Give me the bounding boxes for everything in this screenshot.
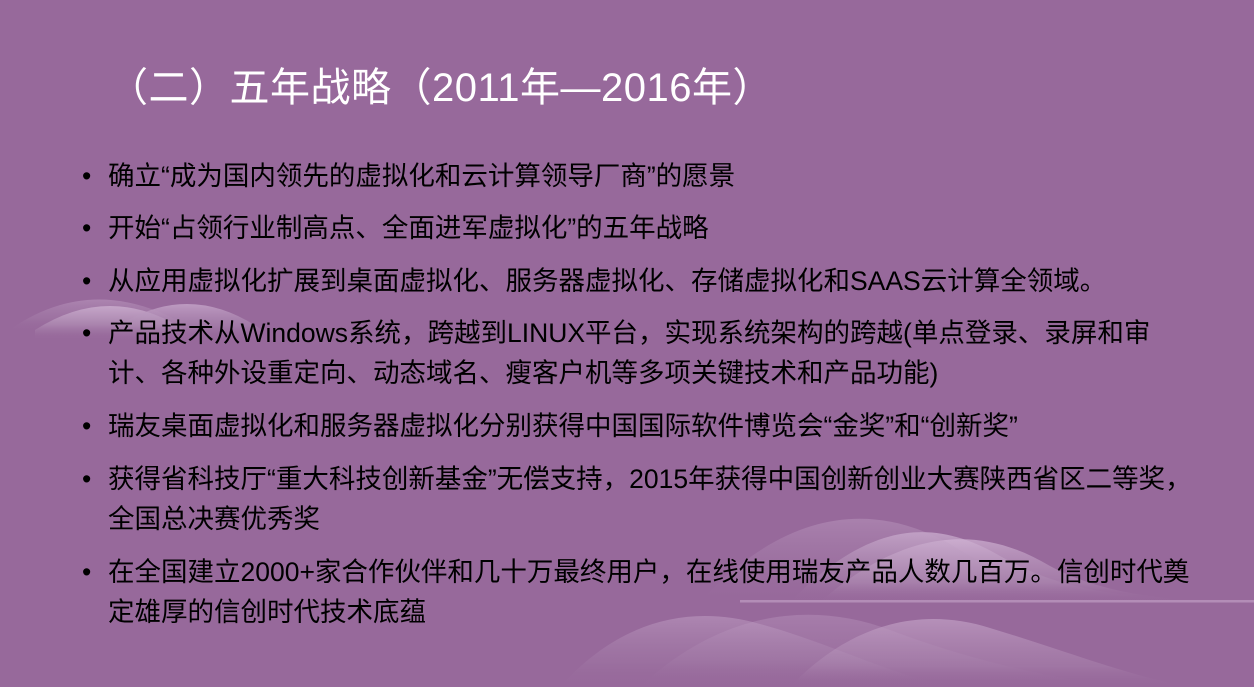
list-item-text: 产品技术从Windows系统，跨越到LINUX平台，实现系统架构的跨越(单点登录… (108, 313, 1202, 394)
bullet-marker-icon: • (82, 552, 91, 592)
list-item: • 产品技术从Windows系统，跨越到LINUX平台，实现系统架构的跨越(单点… (72, 313, 1202, 394)
bullet-marker-icon: • (82, 313, 91, 353)
list-item-text: 在全国建立2000+家合作伙伴和几十万最终用户，在线使用瑞友产品人数几百万。信创… (108, 552, 1202, 633)
bullet-marker-icon: • (82, 208, 91, 248)
title-block: （二）五年战略（2011年—2016年） (108, 64, 1168, 113)
list-item-text: 获得省科技厅“重大科技创新基金”无偿支持，2015年获得中国创新创业大赛陕西省区… (108, 459, 1202, 540)
bullet-marker-icon: • (82, 261, 91, 301)
list-item-text: 开始“占领行业制高点、全面进军虚拟化”的五年战略 (108, 208, 1202, 248)
list-item: • 瑞友桌面虚拟化和服务器虚拟化分别获得中国国际软件博览会“金奖”和“创新奖” (72, 406, 1202, 446)
bullet-list: • 确立“成为国内领先的虚拟化和云计算领导厂商”的愿景 • 开始“占领行业制高点… (72, 156, 1202, 633)
list-item-text: 从应用虚拟化扩展到桌面虚拟化、服务器虚拟化、存储虚拟化和SAAS云计算全领域。 (108, 261, 1202, 301)
list-item: • 从应用虚拟化扩展到桌面虚拟化、服务器虚拟化、存储虚拟化和SAAS云计算全领域… (72, 261, 1202, 301)
list-item-text: 确立“成为国内领先的虚拟化和云计算领导厂商”的愿景 (108, 156, 1202, 196)
bullet-marker-icon: • (82, 459, 91, 499)
list-item: • 在全国建立2000+家合作伙伴和几十万最终用户，在线使用瑞友产品人数几百万。… (72, 552, 1202, 633)
list-item: • 获得省科技厅“重大科技创新基金”无偿支持，2015年获得中国创新创业大赛陕西… (72, 459, 1202, 540)
list-item: • 确立“成为国内领先的虚拟化和云计算领导厂商”的愿景 (72, 156, 1202, 196)
bullet-marker-icon: • (82, 156, 91, 196)
bullet-marker-icon: • (82, 406, 91, 446)
list-item: • 开始“占领行业制高点、全面进军虚拟化”的五年战略 (72, 208, 1202, 248)
list-item-text: 瑞友桌面虚拟化和服务器虚拟化分别获得中国国际软件博览会“金奖”和“创新奖” (108, 406, 1202, 446)
presentation-slide: （二）五年战略（2011年—2016年） • 确立“成为国内领先的虚拟化和云计算… (0, 0, 1254, 687)
page-title: （二）五年战略（2011年—2016年） (108, 64, 1168, 113)
